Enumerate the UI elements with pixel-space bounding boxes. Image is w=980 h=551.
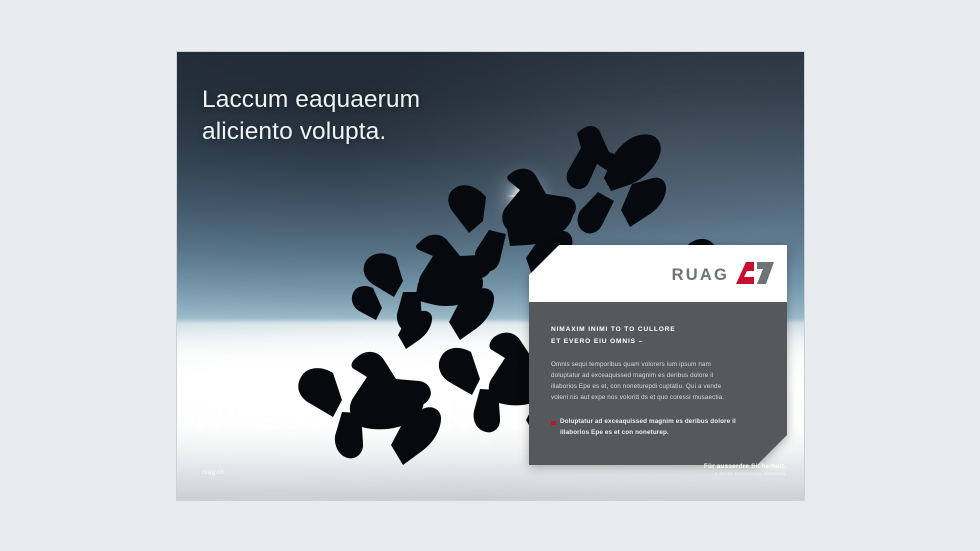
card-header: RUAG (529, 245, 787, 302)
ruag-wordmark: RUAG (672, 267, 729, 284)
ruag-website-url[interactable]: ruag.ch (202, 470, 224, 476)
info-card: RUAG NIMAXIM INIMI TO TO CULLORE ET EVER… (529, 245, 787, 465)
ruag-logo[interactable]: RUAG (672, 262, 774, 289)
card-body: NIMAXIM INIMI TO TO CULLORE ET EVERO EIU… (529, 302, 787, 465)
bullet-square-icon (551, 421, 556, 426)
card-kicker: NIMAXIM INIMI TO TO CULLORE ET EVERO EIU… (551, 324, 765, 347)
card-body-text: Omnis sequi temporibus quam volorers ium… (551, 360, 729, 403)
brand-claim-text: Für ausserdre Sicherheit. (704, 463, 786, 470)
poster-advertisement: Laccum eaquaerum aliciento volupta. RUAG… (177, 52, 804, 500)
card-bullet-text: Doluptatur ad exceaquissed magnim es der… (560, 418, 736, 436)
brand-claim: Für ausserdre Sicherheit. a swiss techno… (704, 463, 786, 476)
brand-claim-subline: a swiss technology company (704, 471, 786, 476)
card-bullet-item: Doluptatur ad exceaquissed magnim es der… (551, 417, 738, 439)
ruag-arrow-mark-icon (736, 262, 774, 289)
poster-headline: Laccum eaquaerum aliciento volupta. (202, 84, 420, 147)
